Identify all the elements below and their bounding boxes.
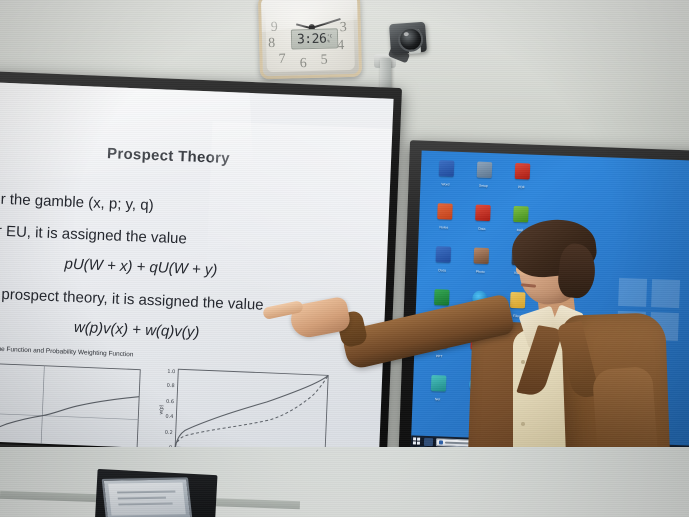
slide-formula-eu: pU(W + x) + qU(W + y) — [64, 255, 218, 278]
word-icon — [438, 160, 454, 177]
wall-clock: 9 8 7 6 5 4 3 3:26 °C % — [258, 0, 362, 79]
desktop-icon[interactable]: Setup — [464, 158, 504, 202]
slide-body-line: nder EU, it is assigned the value — [0, 222, 187, 248]
excel-icon — [434, 289, 450, 306]
probability-weighting-plot: 0 0.2 0.4 0.6 0.8 1.0 0 0.2 0.4 — [152, 364, 342, 457]
desktop-icon-label: Setup — [464, 183, 502, 188]
desktop-icon[interactable]: PDF — [502, 160, 542, 204]
slide-body-line: nder prospect theory, it is assigned the… — [0, 285, 264, 314]
word-icon — [435, 246, 451, 263]
app-icon — [476, 162, 492, 179]
desktop-icon[interactable]: Word — [426, 157, 466, 201]
slide-title: Prospect Theory — [107, 145, 230, 167]
start-button-icon[interactable] — [413, 437, 421, 445]
svg-text:1.0: 1.0 — [167, 369, 175, 375]
clock-lcd-humidity-unit: % — [327, 38, 332, 43]
clock-numeral: 8 — [268, 36, 275, 52]
slide-surface: Prospect Theory sider the gamble (x, p; … — [0, 82, 394, 457]
taskbar-app-button[interactable] — [424, 437, 433, 445]
pdf-icon — [514, 163, 530, 180]
slide-formula-pt: w(p)v(x) + w(q)v(y) — [74, 319, 200, 341]
lectern-laptop[interactable] — [102, 477, 193, 517]
projection-screen[interactable]: Prospect Theory sider the gamble (x, p; … — [0, 71, 402, 480]
svg-text:0.6: 0.6 — [166, 399, 174, 405]
lecture-room-photo: 9 8 7 6 5 4 3 3:26 °C % — [0, 0, 689, 517]
security-camera-icon — [372, 18, 428, 90]
desktop-icon-label: PDF — [502, 185, 540, 190]
slide-charts: -1 0 1 2 x — [0, 354, 366, 458]
value-function-plot: -1 0 1 2 x — [0, 360, 142, 458]
svg-text:0.4: 0.4 — [165, 414, 173, 420]
weighting-plot-ylabel: w(p) — [158, 404, 164, 414]
clock-numeral: 5 — [320, 53, 327, 69]
desktop-icon-label: Net — [419, 397, 457, 402]
clock-digital-time: 3:26 — [297, 31, 327, 47]
clock-lcd-panel: 3:26 °C % — [291, 28, 339, 49]
desktop-icon-label: PPT — [420, 354, 458, 359]
desktop-icon-label: Word — [426, 182, 464, 187]
window-app-icon — [439, 440, 443, 444]
network-icon — [430, 375, 446, 392]
clock-numeral: 6 — [300, 56, 307, 72]
svg-text:0.2: 0.2 — [165, 430, 173, 436]
desktop-icon[interactable]: Net — [418, 372, 458, 416]
clock-numeral: 7 — [278, 52, 285, 68]
slide-body-line: sider the gamble (x, p; y, q) — [0, 190, 154, 214]
svg-text:0.8: 0.8 — [167, 383, 175, 389]
powerpoint-icon — [437, 203, 453, 220]
clock-numeral: 3 — [340, 20, 347, 36]
